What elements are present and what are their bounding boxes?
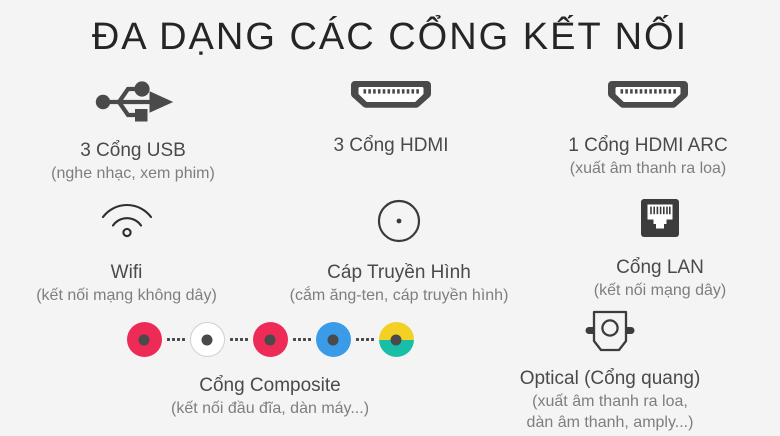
rca-pin — [328, 334, 339, 345]
port-item-composite: Cổng Composite (kết nối đầu đĩa, dàn máy… — [80, 322, 460, 419]
port-label-composite: Cổng Composite — [80, 373, 460, 398]
port-sublabel-optical-line2: dàn âm thanh, amply...) — [440, 412, 780, 433]
port-sublabel-lan: (kết nối mạng dây) — [540, 280, 780, 301]
dotted-connector-line — [162, 338, 190, 341]
port-item-optical: Optical (Cổng quang) (xuất âm thanh ra l… — [440, 308, 780, 433]
wifi-icon — [0, 200, 253, 238]
port-sublabel-coax: (cắm ăng-ten, cáp truyền hình) — [248, 285, 550, 306]
usb-icon — [0, 78, 266, 122]
rca-connector-yellow-teal — [379, 322, 414, 357]
port-label-wifi: Wifi — [0, 260, 253, 285]
port-item-hdmi-arc: 1 Cổng HDMI ARC (xuất âm thanh ra loa) — [516, 78, 780, 179]
coaxial-antenna-icon — [248, 198, 550, 244]
dotted-connector-line — [351, 338, 379, 341]
port-label-usb: 3 Cổng USB — [0, 138, 266, 163]
rca-connector-red-left — [127, 322, 162, 357]
rj45-lan-port-icon — [540, 198, 780, 238]
port-label-lan: Cổng LAN — [540, 255, 780, 280]
hdmi-port-icon — [516, 78, 780, 112]
port-sublabel-wifi: (kết nối mạng không dây) — [0, 285, 253, 306]
port-item-coax: Cáp Truyền Hình (cắm ăng-ten, cáp truyền… — [248, 198, 550, 306]
page-title: ĐA DẠNG CÁC CỔNG KẾT NỐI — [0, 14, 780, 60]
port-label-coax: Cáp Truyền Hình — [248, 260, 550, 285]
port-sublabel-usb: (nghe nhạc, xem phim) — [0, 163, 266, 184]
rca-pin — [202, 334, 213, 345]
rca-pin — [391, 334, 402, 345]
dotted-connector-line — [288, 338, 316, 341]
rca-connector-blue — [316, 322, 351, 357]
port-sublabel-hdmi-arc: (xuất âm thanh ra loa) — [516, 158, 780, 179]
port-label-optical: Optical (Cổng quang) — [440, 366, 780, 391]
rca-pin — [265, 334, 276, 345]
rca-composite-icon — [80, 322, 460, 357]
hdmi-port-icon — [258, 78, 524, 112]
port-item-wifi: Wifi (kết nối mạng không dây) — [0, 200, 253, 306]
rca-connector-row — [80, 322, 460, 357]
rca-pin — [139, 334, 150, 345]
port-item-lan: Cổng LAN (kết nối mạng dây) — [540, 198, 780, 301]
rca-connector-white — [190, 322, 225, 357]
rca-connector-red-right — [253, 322, 288, 357]
port-label-hdmi: 3 Cổng HDMI — [258, 133, 524, 158]
optical-toslink-icon — [440, 308, 780, 356]
port-sublabel-optical-line1: (xuất âm thanh ra loa, — [440, 391, 780, 412]
infographic-canvas: ĐA DẠNG CÁC CỔNG KẾT NỐI — [0, 0, 780, 436]
port-item-usb: 3 Cổng USB (nghe nhạc, xem phim) — [0, 78, 266, 184]
dotted-connector-line — [225, 338, 253, 341]
port-label-hdmi-arc: 1 Cổng HDMI ARC — [516, 133, 780, 158]
port-sublabel-composite: (kết nối đầu đĩa, dàn máy...) — [80, 398, 460, 419]
port-item-hdmi: 3 Cổng HDMI — [258, 78, 524, 158]
